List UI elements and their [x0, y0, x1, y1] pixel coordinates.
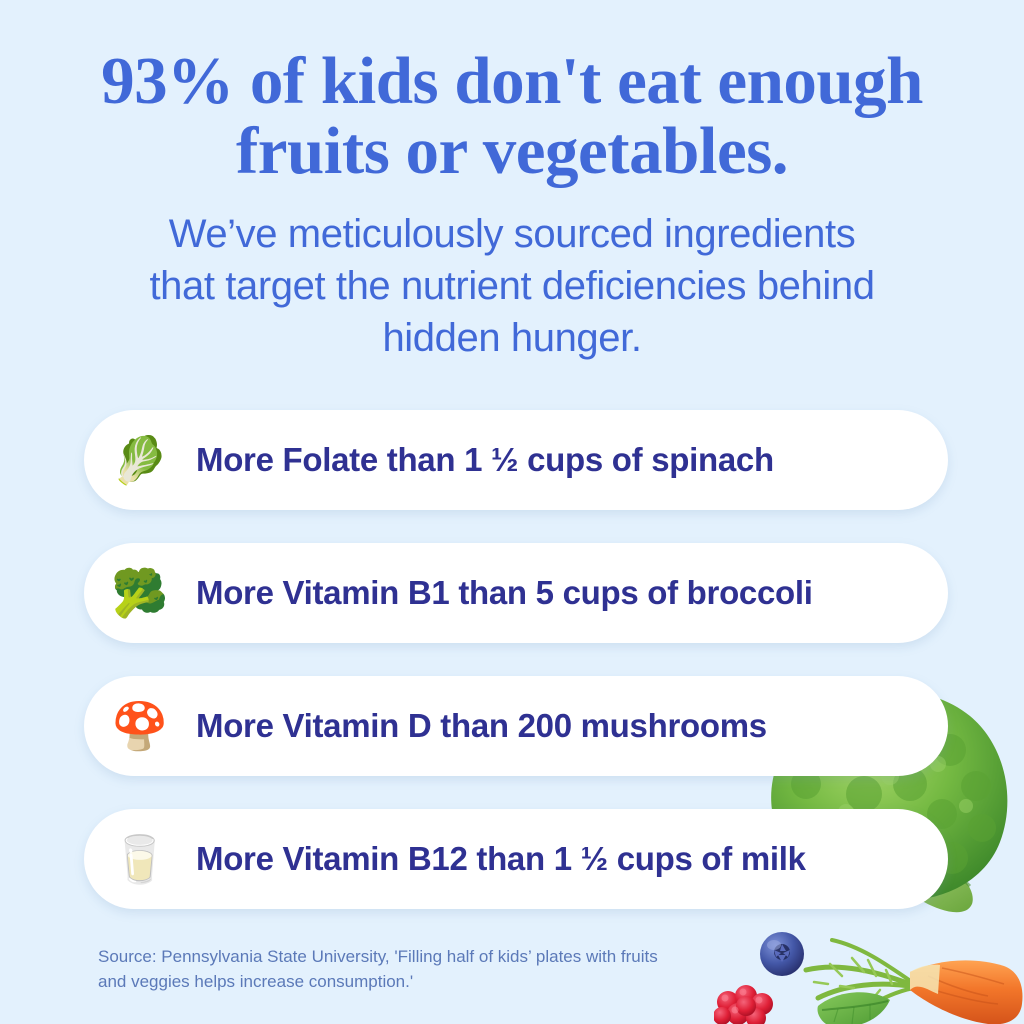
headline-line-2: fruits or vegetables. — [0, 116, 1024, 186]
subheadline-line-1: We’ve meticulously sourced ingredients — [70, 208, 954, 260]
benefit-card-vitamin-d: 🍄 More Vitamin D than 200 mushrooms — [84, 676, 948, 776]
carrot-greens — [806, 940, 914, 1020]
benefit-card-label: More Vitamin B12 than 1 ½ cups of milk — [196, 840, 806, 878]
leafy-green-emoji: 🥬 — [84, 437, 196, 483]
broccoli-emoji: 🥦 — [84, 570, 196, 616]
subheadline-line-3: hidden hunger. — [70, 312, 954, 364]
benefit-card-vitamin-b1: 🥦 More Vitamin B1 than 5 cups of broccol… — [84, 543, 948, 643]
benefit-card-label: More Vitamin B1 than 5 cups of broccoli — [196, 574, 813, 612]
carrot — [910, 960, 1022, 1024]
source-citation: Source: Pennsylvania State University, '… — [98, 944, 778, 994]
page-title: 93% of kids don't eat enough fruits or v… — [0, 0, 1024, 186]
subheadline: We’ve meticulously sourced ingredients t… — [0, 208, 1024, 364]
benefit-card-vitamin-b12: 🥛 More Vitamin B12 than 1 ½ cups of milk — [84, 809, 948, 909]
source-line-1: Source: Pennsylvania State University, '… — [98, 944, 778, 969]
subheadline-line-2: that target the nutrient deficiencies be… — [70, 260, 954, 312]
benefit-card-label: More Folate than 1 ½ cups of spinach — [196, 441, 774, 479]
headline-line-1: 93% of kids don't eat enough — [0, 46, 1024, 116]
spinach-leaf — [817, 992, 890, 1024]
benefit-card-folate: 🥬 More Folate than 1 ½ cups of spinach — [84, 410, 948, 510]
mushroom-emoji: 🍄 — [84, 703, 196, 749]
glass-of-milk-emoji: 🥛 — [84, 836, 196, 882]
benefit-card-label: More Vitamin D than 200 mushrooms — [196, 707, 767, 745]
benefit-card-list: 🥬 More Folate than 1 ½ cups of spinach 🥦… — [84, 410, 948, 909]
source-line-2: and veggies helps increase consumption.' — [98, 969, 778, 994]
